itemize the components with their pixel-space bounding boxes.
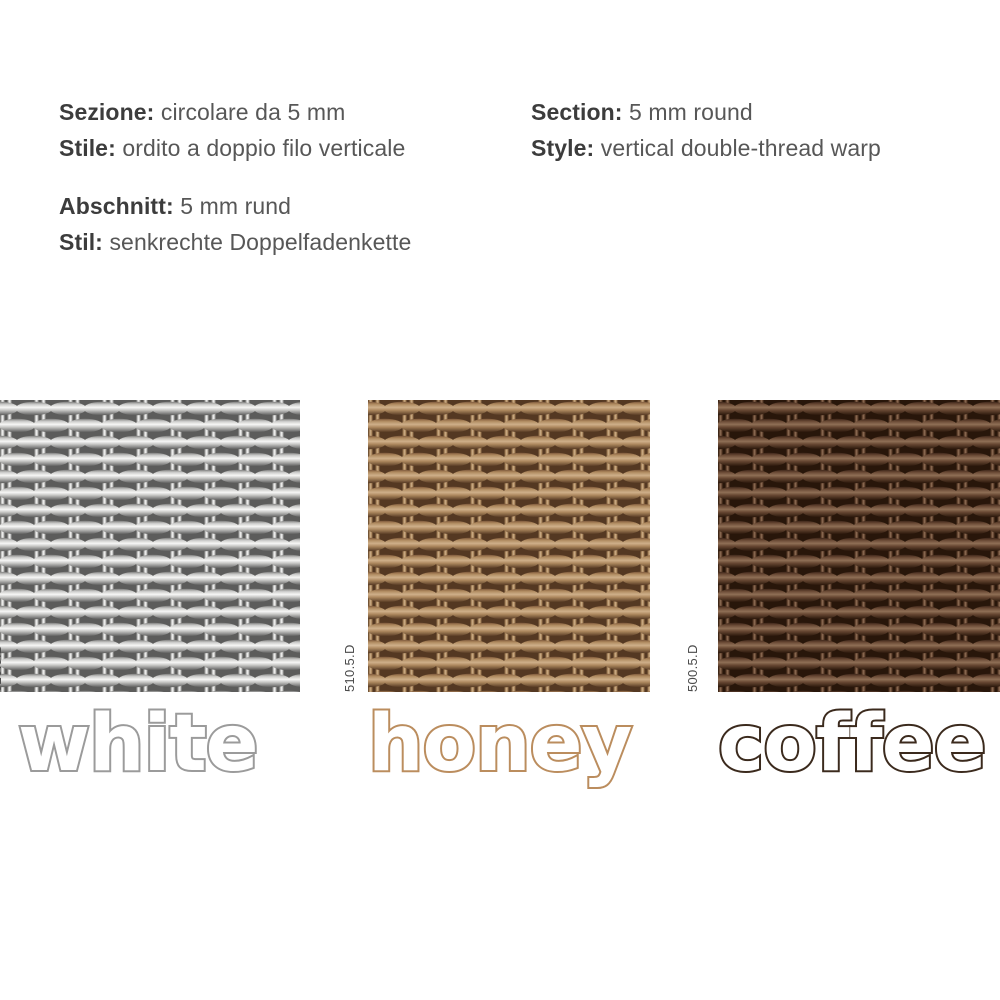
swatch-row: 520.5.D 510.5.D 500.5.D bbox=[0, 400, 1000, 692]
color-name-text: honey bbox=[368, 692, 631, 796]
spec-block-english: Section: 5 mm round Style: vertical doub… bbox=[531, 94, 881, 166]
spec-key: Section: bbox=[531, 99, 623, 125]
spec-line: Abschnitt: 5 mm rund bbox=[59, 188, 411, 224]
spec-key: Abschnitt: bbox=[59, 193, 174, 219]
spec-line: Sezione: circolare da 5 mm bbox=[59, 94, 405, 130]
spec-key: Stile: bbox=[59, 135, 116, 161]
spec-value: circolare da 5 mm bbox=[161, 99, 345, 125]
spec-line: Stil: senkrechte Doppelfadenkette bbox=[59, 224, 411, 260]
color-name-coffee: coffee bbox=[718, 692, 986, 796]
weave-texture-coffee bbox=[718, 400, 1000, 692]
spec-key: Stil: bbox=[59, 229, 103, 255]
swatch-honey[interactable] bbox=[368, 400, 650, 692]
swatch-code-white: 520.5.D bbox=[0, 644, 4, 692]
color-name-white: white bbox=[18, 692, 258, 796]
spec-line: Section: 5 mm round bbox=[531, 94, 881, 130]
spec-block-german: Abschnitt: 5 mm rund Stil: senkrechte Do… bbox=[59, 188, 411, 260]
color-name-text: coffee bbox=[718, 692, 986, 796]
swatch-code-honey: 510.5.D bbox=[342, 644, 357, 692]
swatch-code-coffee: 500.5.D bbox=[685, 644, 700, 692]
spec-key: Sezione: bbox=[59, 99, 154, 125]
spec-value: 5 mm round bbox=[629, 99, 753, 125]
spec-value: senkrechte Doppelfadenkette bbox=[109, 229, 411, 255]
spec-block-italian: Sezione: circolare da 5 mm Stile: ordito… bbox=[59, 94, 405, 166]
spec-value: vertical double-thread warp bbox=[601, 135, 881, 161]
spec-line: Stile: ordito a doppio filo verticale bbox=[59, 130, 405, 166]
swatch-white[interactable] bbox=[0, 400, 300, 692]
spec-key: Style: bbox=[531, 135, 594, 161]
weave-texture-white bbox=[0, 400, 300, 692]
spec-value: 5 mm rund bbox=[180, 193, 291, 219]
spec-value: ordito a doppio filo verticale bbox=[122, 135, 405, 161]
swatch-coffee[interactable] bbox=[718, 400, 1000, 692]
color-name-row: white honey coffee bbox=[0, 692, 1000, 802]
color-name-honey: honey bbox=[368, 692, 631, 796]
color-name-text: white bbox=[18, 692, 258, 796]
weave-texture-honey bbox=[368, 400, 650, 692]
spec-line: Style: vertical double-thread warp bbox=[531, 130, 881, 166]
